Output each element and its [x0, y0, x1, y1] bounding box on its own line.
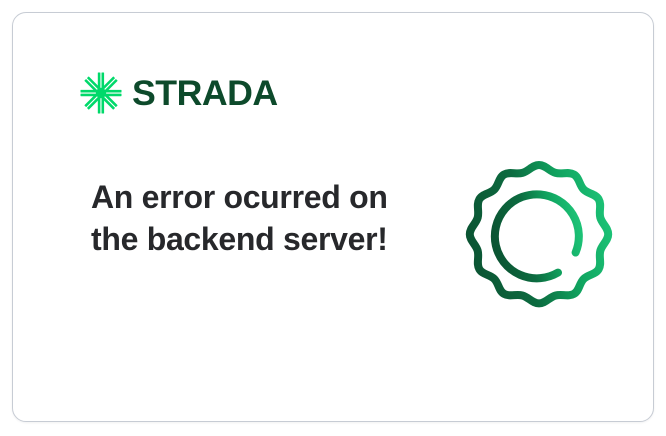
strada-asterisk-mark-icon [79, 71, 123, 115]
brand-wordmark: STRADA [132, 76, 278, 111]
brand-logo: STRADA [79, 69, 275, 117]
error-message-text: An error ocurred on the backend server! [91, 176, 391, 260]
error-page-screen: STRADA An error ocurred on the backend s… [0, 0, 666, 436]
error-card: STRADA An error ocurred on the backend s… [12, 12, 654, 422]
gear-cog-icon [457, 155, 621, 319]
